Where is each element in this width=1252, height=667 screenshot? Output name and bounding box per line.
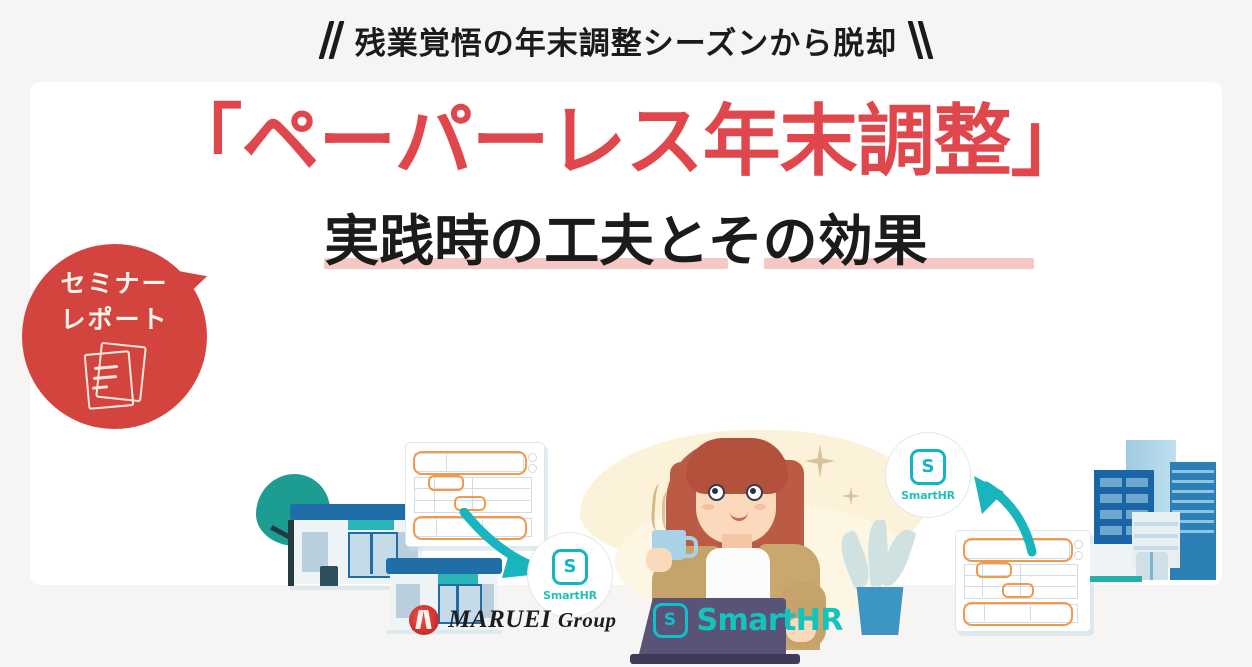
office-buildings-icon <box>1090 440 1230 600</box>
potted-plant-leaves <box>840 520 922 594</box>
smarthr-badge-label: SmartHR <box>901 489 955 502</box>
subtitle-part-1: 実践時の工夫 <box>324 209 654 273</box>
footer-logos: MARUEI Group S SmartHR <box>0 596 1252 644</box>
form-highlight <box>428 475 464 491</box>
subtitle-part-3: その効果 <box>708 209 928 273</box>
seminar-report-badge: セミナー レポート <box>22 244 230 429</box>
shop-awning <box>348 520 394 530</box>
poster-canvas: 残業覚悟の年末調整シーズンから脱却 「ペーパーレス年末調整」 実践時の工夫とその… <box>0 0 1252 657</box>
document-stack-icon <box>84 344 146 410</box>
tagline: 残業覚悟の年末調整シーズンから脱却 <box>0 14 1252 66</box>
shop-door-divider <box>370 532 373 574</box>
tagline-text: 残業覚悟の年末調整シーズンから脱却 <box>355 18 897 63</box>
hand-left <box>646 548 672 572</box>
page-title: 「ペーパーレス年末調整」 <box>30 100 1222 186</box>
smarthr-logo-text: SmartHR <box>697 603 843 638</box>
mug-handle <box>682 536 698 558</box>
subtitle-part-2: と <box>654 209 707 273</box>
maruei-mark-icon <box>409 605 439 635</box>
maruei-logo-text: MARUEI Group <box>448 606 616 634</box>
badge-line-1: セミナー <box>22 266 207 302</box>
hair-top <box>686 438 788 494</box>
maruei-group-logo: MARUEI Group <box>409 605 616 635</box>
page-subtitle: 実践時の工夫とその効果 <box>324 210 927 273</box>
smarthr-logo: S SmartHR <box>653 603 843 638</box>
decorative-slashes-left <box>324 21 339 59</box>
smarthr-badge-right[interactable]: S SmartHR <box>885 432 971 518</box>
cheek <box>702 504 714 510</box>
curved-arrow-up-left-icon <box>960 474 1060 558</box>
form-highlight <box>413 451 527 475</box>
badge-text: セミナー レポート <box>22 266 207 339</box>
decorative-slashes-right <box>913 21 928 59</box>
smarthr-logo-icon: S <box>552 549 588 585</box>
pupil <box>712 488 718 494</box>
smarthr-logo-icon: S <box>653 603 688 638</box>
cheek <box>754 504 766 510</box>
pupil <box>750 488 756 494</box>
form-highlight <box>976 562 1012 578</box>
shop-sign <box>320 566 338 588</box>
maruei-name: MARUEI <box>448 606 551 633</box>
maruei-suffix: Group <box>558 608 617 632</box>
badge-line-2: レポート <box>22 302 207 338</box>
laptop-base <box>630 654 800 664</box>
smarthr-logo-icon: S <box>910 449 946 485</box>
